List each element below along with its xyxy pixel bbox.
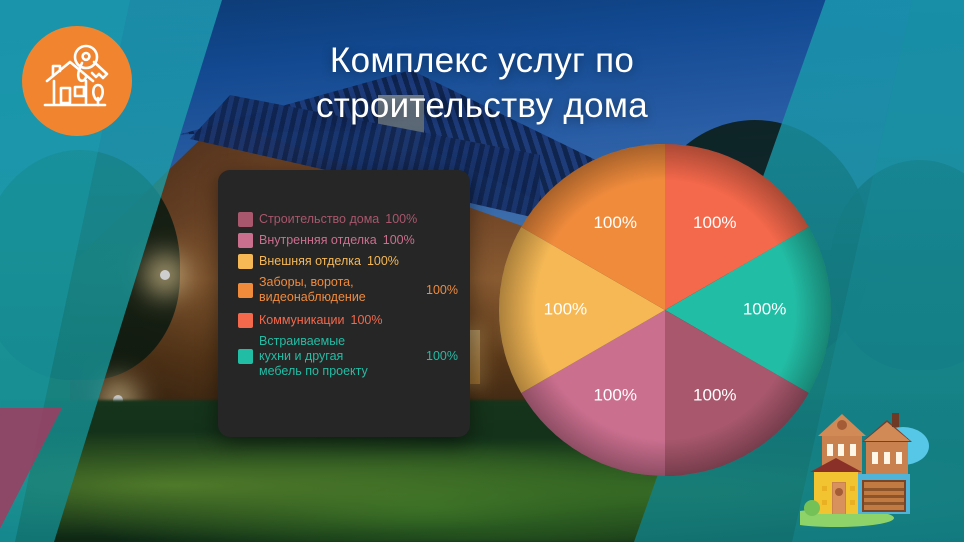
legend-percent: 100% <box>426 349 458 364</box>
legend-list: Строительство дома100%Внутренняя отделка… <box>238 212 458 379</box>
legend-item[interactable]: Внешняя отделка100% <box>238 254 458 269</box>
legend-item[interactable]: Строительство дома100% <box>238 212 458 227</box>
legend-label: Заборы, ворота, видеонаблюдение <box>259 275 420 305</box>
legend-label: Строительство дома <box>259 212 379 227</box>
legend-swatch <box>238 349 253 364</box>
legend-swatch <box>238 313 253 328</box>
legend-label: Внутренняя отделка <box>259 233 377 248</box>
house-key-logo-icon <box>37 41 117 121</box>
legend-percent: 100% <box>367 254 399 269</box>
legend-item[interactable]: Коммуникации100% <box>238 313 458 328</box>
pie-slice-label: 100% <box>593 386 636 405</box>
pie-slice-label: 100% <box>544 299 587 318</box>
legend-percent: 100% <box>385 212 417 227</box>
pie-slice-label: 100% <box>693 213 736 232</box>
legend-percent: 100% <box>426 283 458 298</box>
legend-swatch <box>238 283 253 298</box>
legend-label: Внешняя отделка <box>259 254 361 269</box>
pie-slice-label: 100% <box>593 213 636 232</box>
pie-chart: 100%100%100%100%100%100% <box>497 142 833 478</box>
legend-swatch <box>238 254 253 269</box>
pie-chart-svg: 100%100%100%100%100%100% <box>497 142 833 478</box>
legend-item[interactable]: Встраиваемые кухни и другая мебель по пр… <box>238 334 458 379</box>
legend-swatch <box>238 233 253 248</box>
legend-panel: Строительство дома100%Внутренняя отделка… <box>218 170 470 437</box>
legend-percent: 100% <box>351 313 383 328</box>
legend-item[interactable]: Внутренняя отделка100% <box>238 233 458 248</box>
legend-label: Встраиваемые кухни и другая мебель по пр… <box>259 334 420 379</box>
legend-percent: 100% <box>383 233 415 248</box>
slide-root: Комплекс услуг по строительству дома 100… <box>0 0 964 542</box>
page-title: Комплекс услуг по строительству дома <box>232 38 732 128</box>
legend-swatch <box>238 212 253 227</box>
pie-slice-label: 100% <box>743 299 786 318</box>
pie-slice-label: 100% <box>693 386 736 405</box>
legend-item[interactable]: Заборы, ворота, видеонаблюдение100% <box>238 275 458 305</box>
legend-label: Коммуникации <box>259 313 345 328</box>
flat-house-illustration-icon <box>800 408 950 528</box>
brand-logo <box>22 26 132 136</box>
